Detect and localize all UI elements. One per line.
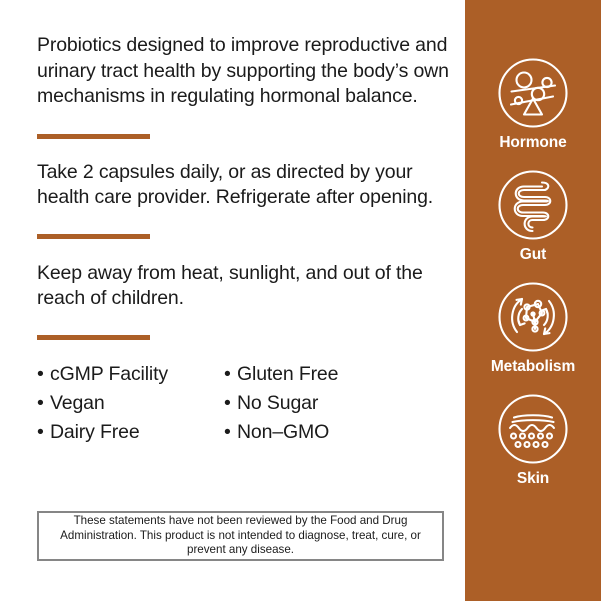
bullet-label: cGMP Facility <box>50 363 168 385</box>
bullet-column-right: •Gluten Free •No Sugar •Non–GMO <box>224 360 338 447</box>
bullet-label: Dairy Free <box>50 421 140 443</box>
fda-disclaimer-text: These statements have not been reviewed … <box>39 514 442 558</box>
content-column: Probiotics designed to improve reproduct… <box>0 0 465 601</box>
bullet-label: No Sugar <box>237 392 318 414</box>
bullet-marker: • <box>37 389 50 418</box>
list-item: •cGMP Facility <box>37 360 224 389</box>
directions-paragraph: Take 2 capsules daily, or as directed by… <box>37 160 449 211</box>
bullet-marker: • <box>224 360 237 389</box>
skin-layers-icon <box>497 393 569 465</box>
bullet-label: Vegan <box>50 392 105 414</box>
description-paragraph: Probiotics designed to improve reproduct… <box>37 33 449 110</box>
list-item: •Vegan <box>37 389 224 418</box>
bullet-column-left: •cGMP Facility •Vegan •Dairy Free <box>37 360 224 447</box>
hormone-balance-scale-icon <box>497 57 569 129</box>
bullet-marker: • <box>224 418 237 447</box>
benefit-item-hormone: Hormone <box>497 57 569 152</box>
section-divider-3 <box>37 335 150 340</box>
list-item: •Non–GMO <box>224 418 338 447</box>
benefit-label: Skin <box>517 470 549 488</box>
warning-paragraph: Keep away from heat, sunlight, and out o… <box>37 261 449 312</box>
attribute-bullet-grid: •cGMP Facility •Vegan •Dairy Free •Glute… <box>37 360 465 447</box>
section-divider-1 <box>37 134 150 139</box>
bullet-label: Non–GMO <box>237 421 329 443</box>
intestines-icon <box>497 169 569 241</box>
molecule-cycle-icon <box>497 281 569 353</box>
list-item: •Gluten Free <box>224 360 338 389</box>
benefit-label: Metabolism <box>491 358 575 376</box>
list-item: •No Sugar <box>224 389 338 418</box>
benefit-item-skin: Skin <box>497 393 569 488</box>
section-divider-2 <box>37 234 150 239</box>
benefit-label: Gut <box>520 246 546 264</box>
benefit-item-gut: Gut <box>497 169 569 264</box>
fda-disclaimer-box: These statements have not been reviewed … <box>37 511 444 561</box>
bullet-marker: • <box>37 418 50 447</box>
product-label-panel: Probiotics designed to improve reproduct… <box>0 0 601 601</box>
benefits-sidebar: Hormone Gut <box>465 0 601 601</box>
bullet-marker: • <box>224 389 237 418</box>
benefit-item-metabolism: Metabolism <box>491 281 575 376</box>
bullet-label: Gluten Free <box>237 363 338 385</box>
list-item: •Dairy Free <box>37 418 224 447</box>
benefit-label: Hormone <box>499 134 566 152</box>
bullet-marker: • <box>37 360 50 389</box>
